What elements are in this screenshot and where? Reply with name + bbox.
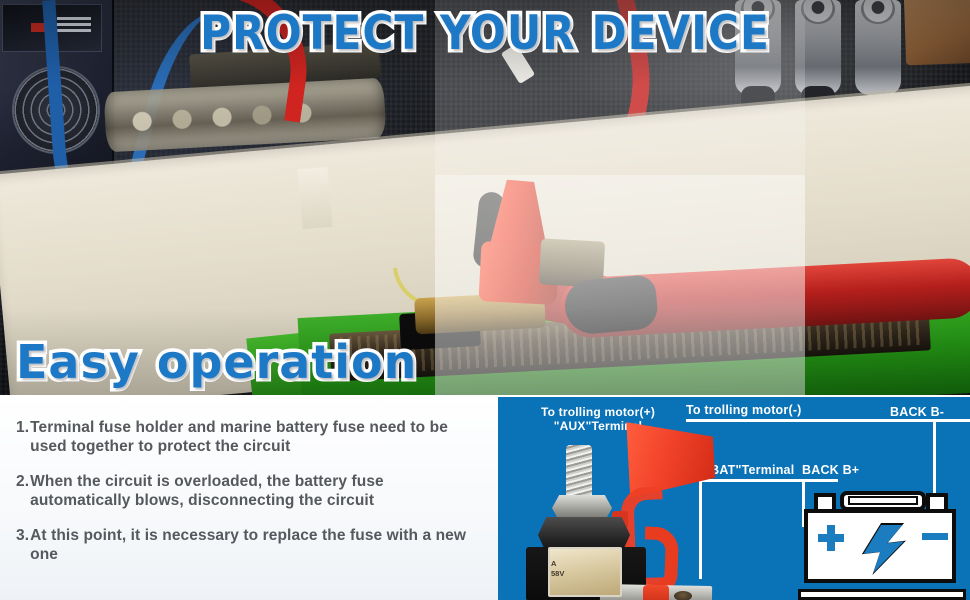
steps-list: 1. Terminal fuse holder and marine batte… [16,418,486,580]
label-back-b-negative: BACK B- [890,405,944,419]
hull-notch [297,167,332,229]
label-aux-line1: To trolling motor(+) [541,405,655,419]
chrome-connector-2 [795,0,841,95]
label-back-b-positive: BACK B+ [802,463,859,477]
battery-illustration [798,485,968,600]
step-text: When the circuit is overloaded, the batt… [29,472,486,510]
battery-minus-symbol [922,533,948,540]
step-number: 2. [16,472,29,510]
fuse-cover-foot [643,585,669,600]
label-motor-negative: To trolling motor(-) [686,403,802,417]
fuse-mount-hole [674,591,692,600]
promo-banner: PROTECT YOUR DEVICE Easy operation 1. Te… [0,0,970,600]
section-subtitle: Easy operation [16,336,417,388]
list-item: 3. At this point, it is necessary to rep… [16,526,486,564]
chrome-connector-3 [855,0,901,95]
fuse-rating-volt: 58V [551,569,564,578]
list-item: 2. When the circuit is overloaded, the b… [16,472,486,510]
battery-lid-inner [848,496,918,505]
step-number: 3. [16,526,29,564]
wire-motor-negative-horizontal [686,419,970,422]
fuse-rating-amp: A [551,559,556,568]
terminal-boot [563,274,659,336]
wire-back-b-positive-horizontal [802,479,838,482]
fuse-rating-text: A 58V [551,559,577,579]
copper-busbar [904,0,970,65]
fuse-holder-product: A 58V [504,435,724,600]
battery-plus-symbol [818,525,844,551]
fuse-threaded-stud [566,445,592,501]
step-text: At this point, it is necessary to replac… [29,526,486,564]
step-text: Terminal fuse holder and marine battery … [29,418,486,456]
battery-base [798,589,966,600]
step-number: 1. [16,418,29,456]
page-title: PROTECT YOUR DEVICE [200,8,770,60]
wiring-diagram: To trolling motor(+) "AUX"Terminal To tr… [498,397,970,600]
list-item: 1. Terminal fuse holder and marine batte… [16,418,486,456]
